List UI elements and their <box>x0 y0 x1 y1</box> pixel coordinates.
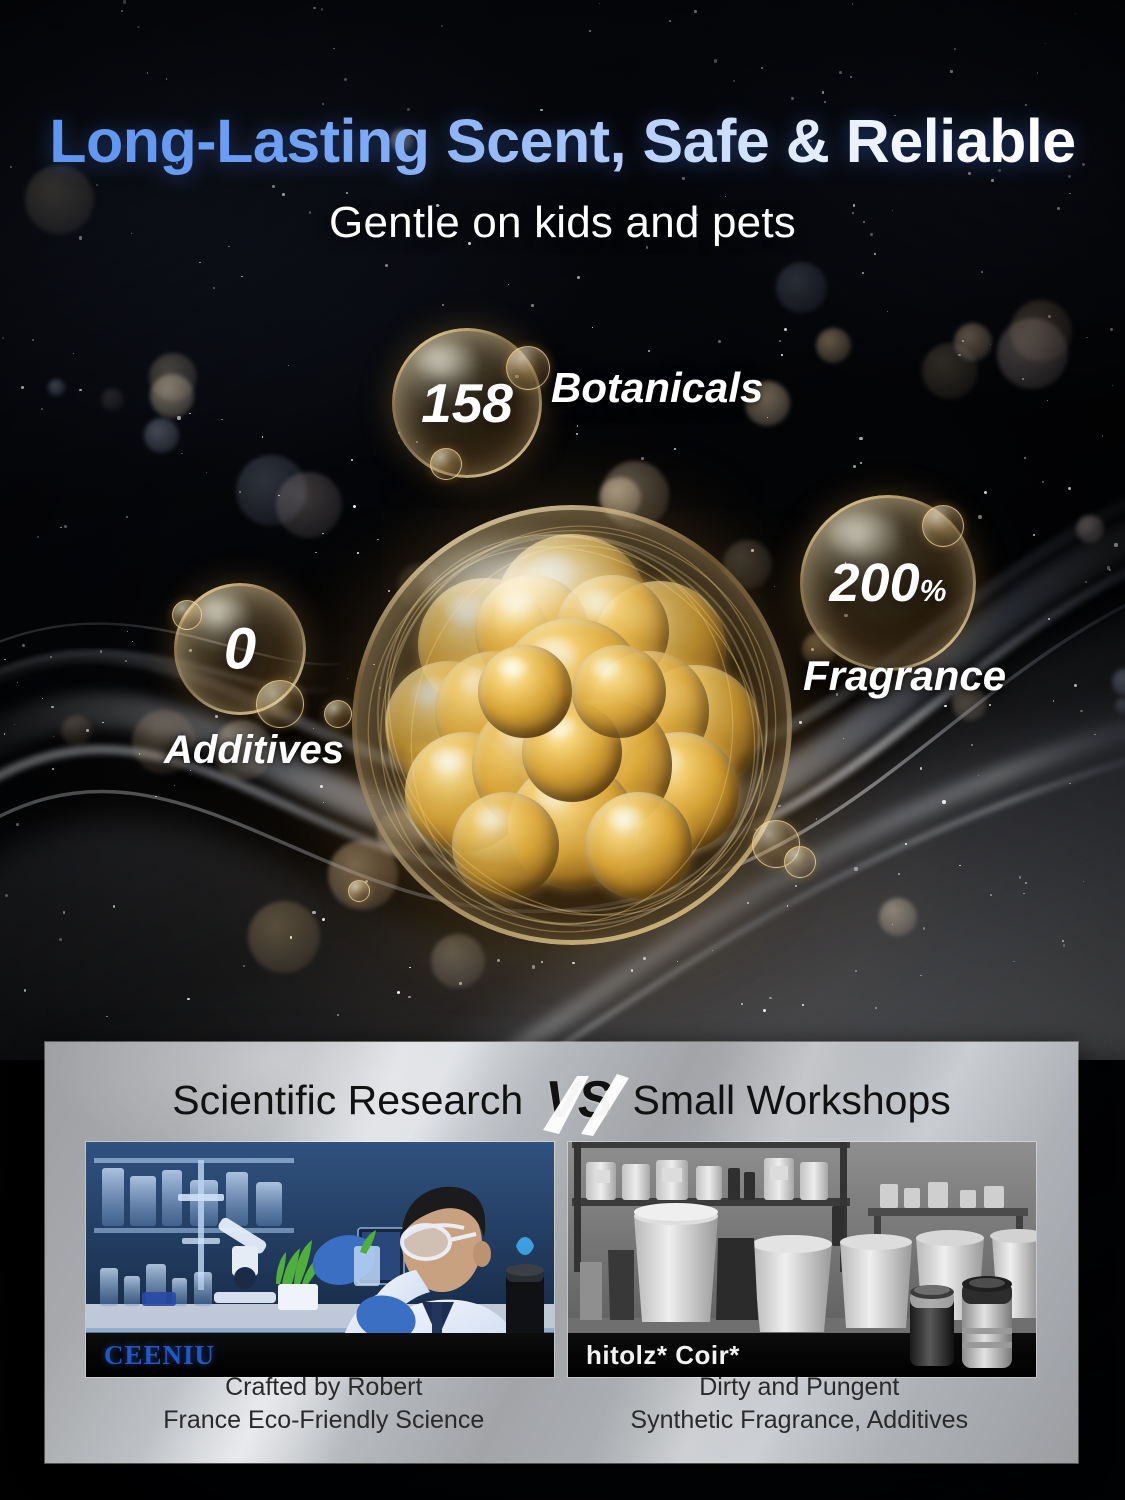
caption-left-line1: Crafted by Robert <box>86 1371 562 1404</box>
mini-bubble <box>348 880 370 902</box>
stat-value-botanicals: 158 <box>392 371 542 435</box>
golden-essence-orb <box>352 505 792 945</box>
product-infographic: Long-Lasting Scent, Safe & Reliable Gent… <box>0 0 1125 1500</box>
vs-badge: VS <box>541 1070 614 1130</box>
brand-label-ceeniu: CEENIU <box>104 1340 215 1371</box>
caption-left-line2: France Eco-Friendly Science <box>86 1404 562 1437</box>
stat-value-fragrance-suffix: % <box>920 575 947 608</box>
comparison-captions: Crafted by Robert France Eco-Friendly Sc… <box>86 1371 1037 1437</box>
vs-label: VS <box>545 1071 610 1129</box>
caption-right-line2: Synthetic Fragrance, Additives <box>562 1404 1038 1437</box>
mini-bubble <box>430 448 462 480</box>
comparison-photos: CEENIU <box>86 1142 1037 1377</box>
mini-bubble <box>922 505 964 547</box>
brand-label-competitors: hitolz* Coir* <box>586 1340 740 1371</box>
mini-bubble <box>784 846 816 878</box>
competitor-devices-illustration <box>904 1266 1024 1371</box>
stat-value-additives: 0 <box>174 616 306 683</box>
caption-right-line1: Dirty and Pungent <box>562 1371 1038 1404</box>
comparison-title-left: Scientific Research <box>172 1077 523 1124</box>
comparison-heading: Scientific Research VS Small Workshops <box>45 1058 1078 1142</box>
stat-label-fragrance: Fragrance <box>803 652 1006 700</box>
comparison-title-right: Small Workshops <box>633 1077 951 1124</box>
page-title: Long-Lasting Scent, Safe & Reliable <box>0 106 1125 176</box>
stat-label-botanicals: Botanicals <box>551 364 763 412</box>
caption-right: Dirty and Pungent Synthetic Fragrance, A… <box>562 1371 1038 1437</box>
stat-value-fragrance-number: 200 <box>830 553 920 613</box>
mini-bubble <box>256 680 304 728</box>
orb-highlight <box>422 531 633 628</box>
stat-label-additives: Additives <box>164 728 344 773</box>
page-subtitle: Gentle on kids and pets <box>0 198 1125 248</box>
comparison-panel: Scientific Research VS Small Workshops <box>45 1042 1078 1463</box>
mini-bubble <box>324 700 352 728</box>
stat-value-fragrance: 200% <box>800 552 976 614</box>
caption-left: Crafted by Robert France Eco-Friendly Sc… <box>86 1371 562 1437</box>
photo-scientific-lab: CEENIU <box>86 1142 554 1377</box>
photo-small-workshop: hitolz* Coir* <box>568 1142 1036 1377</box>
